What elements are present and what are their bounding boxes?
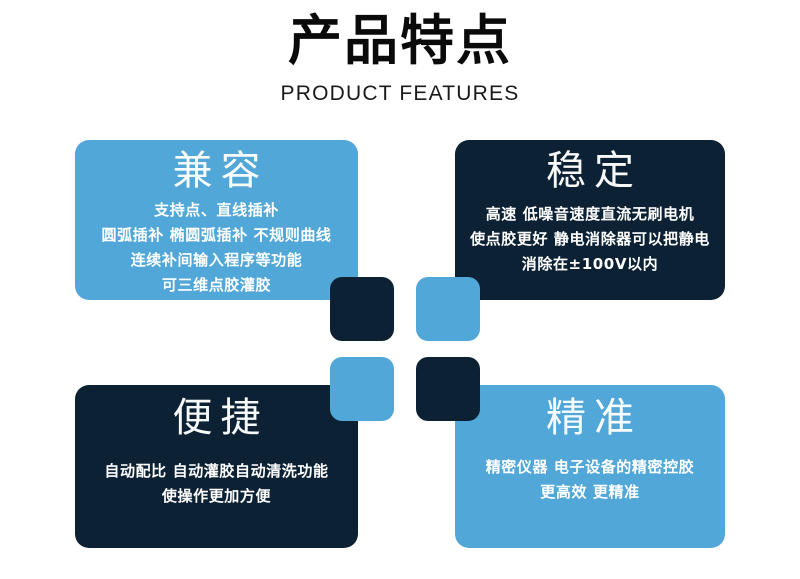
- feature-card-precise-heading: 精准: [469, 385, 711, 441]
- feature-card-stable-lines: 高速 低噪音速度直流无刷电机 使点胶更好 静电消除器可以把静电 消除在±100V…: [469, 194, 711, 277]
- page-title-cn: 产品特点: [0, 0, 800, 72]
- feature-line: 更高效 更精准: [469, 480, 711, 505]
- feature-line: 可三维点胶灌胶: [89, 273, 344, 298]
- product-features-page: 产品特点 PRODUCT FEATURES 兼容 支持点、直线插补 圆弧插补 椭…: [0, 0, 800, 579]
- feature-card-stable-heading: 稳定: [469, 140, 711, 194]
- decorative-square-bottom-left: [330, 357, 394, 421]
- feature-line: 消除在±100V以内: [469, 252, 711, 277]
- decorative-square-top-left: [330, 277, 394, 341]
- feature-line: 高速 低噪音速度直流无刷电机: [469, 202, 711, 227]
- feature-line: 支持点、直线插补: [89, 198, 344, 223]
- decorative-square-bottom-right: [416, 357, 480, 421]
- feature-line: 自动配比 自动灌胶自动清洗功能: [89, 459, 344, 484]
- feature-line: 使点胶更好 静电消除器可以把静电: [469, 227, 711, 252]
- feature-card-precise-lines: 精密仪器 电子设备的精密控胶 更高效 更精准: [469, 441, 711, 505]
- feature-card-compat-lines: 支持点、直线插补 圆弧插补 椭圆弧插补 不规则曲线 连续补间输入程序等功能 可三…: [89, 194, 344, 298]
- page-title-en: PRODUCT FEATURES: [0, 72, 800, 106]
- feature-card-easy-heading: 便捷: [89, 385, 344, 441]
- feature-line: 连续补间输入程序等功能: [89, 248, 344, 273]
- feature-card-easy: 便捷 自动配比 自动灌胶自动清洗功能 使操作更加方便: [75, 385, 358, 548]
- page-header: 产品特点 PRODUCT FEATURES: [0, 0, 800, 106]
- feature-card-precise: 精准 精密仪器 电子设备的精密控胶 更高效 更精准: [455, 385, 725, 548]
- feature-card-compat-heading: 兼容: [89, 140, 344, 194]
- feature-line: 精密仪器 电子设备的精密控胶: [469, 455, 711, 480]
- feature-card-easy-lines: 自动配比 自动灌胶自动清洗功能 使操作更加方便: [89, 441, 344, 509]
- decorative-square-top-right: [416, 277, 480, 341]
- feature-line: 使操作更加方便: [89, 484, 344, 509]
- feature-card-compat: 兼容 支持点、直线插补 圆弧插补 椭圆弧插补 不规则曲线 连续补间输入程序等功能…: [75, 140, 358, 300]
- feature-card-stable: 稳定 高速 低噪音速度直流无刷电机 使点胶更好 静电消除器可以把静电 消除在±1…: [455, 140, 725, 300]
- feature-line: 圆弧插补 椭圆弧插补 不规则曲线: [89, 223, 344, 248]
